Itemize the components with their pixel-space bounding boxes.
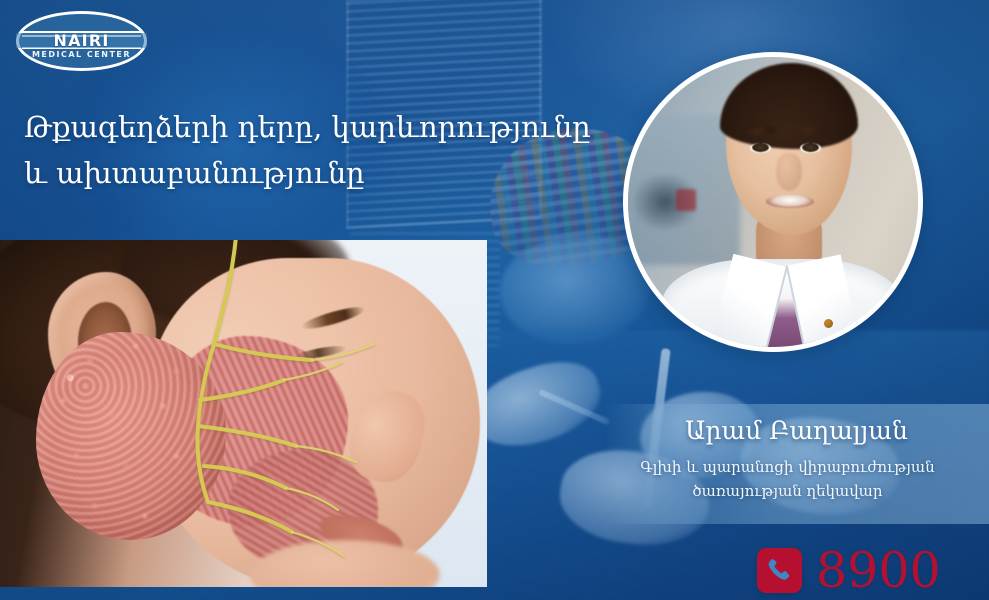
logo-brand-name: NAIRI <box>16 33 147 48</box>
nairi-logo[interactable]: NAIRI MEDICAL CENTER <box>16 11 147 71</box>
anatomy-illustration <box>0 240 487 587</box>
hotline[interactable]: 8900 <box>757 546 941 595</box>
portrait-smile <box>766 195 814 208</box>
phone-icon <box>757 548 802 593</box>
logo-tagline: MEDICAL CENTER <box>16 50 147 59</box>
doctor-name: Արամ Բաղալյան <box>604 414 989 448</box>
hotline-number: 8900 <box>816 546 941 595</box>
doctor-portrait <box>623 52 923 352</box>
portrait-eye <box>800 143 821 153</box>
portrait-eye <box>750 143 771 153</box>
portrait-nose <box>776 153 802 191</box>
page-title: Թքագեղձերի դերը, կարևորությունը և ախտաբա… <box>24 104 604 196</box>
portrait-lapel-pin <box>824 319 833 328</box>
doctor-role: Գլխի և պարանոցի վիրաբուժության ծառայությ… <box>586 455 989 503</box>
promo-banner: NAIRI MEDICAL CENTER Թքագեղձերի դերը, կա… <box>0 0 989 600</box>
portrait-background-object <box>676 189 696 211</box>
illustration-facial-nerve-branches <box>0 240 487 587</box>
